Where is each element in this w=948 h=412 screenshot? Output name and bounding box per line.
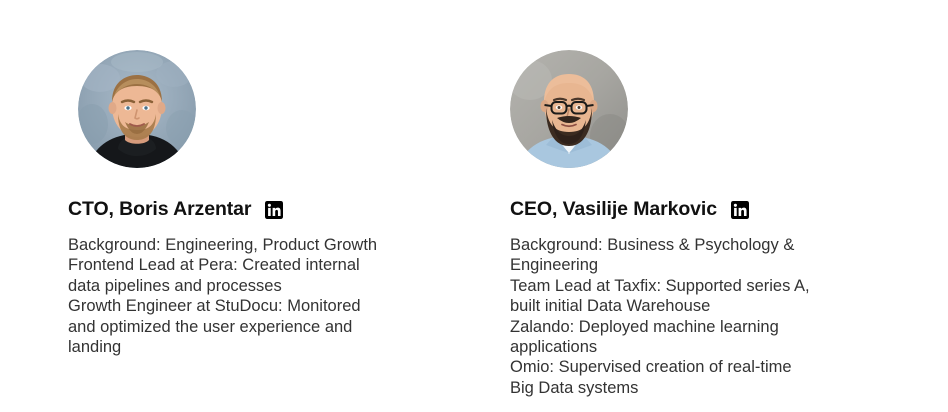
team-profiles-section: CTO, Boris Arzentar Background: Engineer… [0,0,948,412]
profile-name-row: CEO, Vasilije Markovic [510,196,749,222]
profile-name: CTO, Boris Arzentar [68,196,251,222]
avatar [510,50,628,168]
linkedin-icon[interactable] [731,201,749,219]
profile-bio: Background: Business & Psychology & Engi… [510,235,860,398]
avatar-photo-boris [78,50,196,168]
avatar-photo-vasilije [510,50,628,168]
profile-bio: Background: Engineering, Product Growth … [68,235,413,357]
linkedin-icon[interactable] [265,201,283,219]
avatar [78,50,196,168]
profile-name-row: CTO, Boris Arzentar [68,196,283,222]
profile-name: CEO, Vasilije Markovic [510,196,717,222]
